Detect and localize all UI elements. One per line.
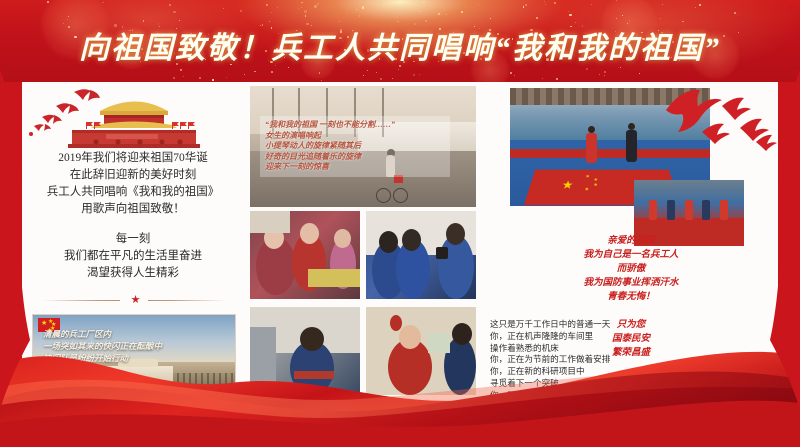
sparkle-dot <box>461 11 463 13</box>
sparkle-dot <box>380 78 382 80</box>
caption-line: “我和我的祖国 一刻也不能分割……” <box>265 120 445 131</box>
sparkle-dot <box>465 6 466 7</box>
sparkle-dot <box>362 6 365 9</box>
sparkle-dot <box>223 8 224 9</box>
sparkle-dot <box>143 20 145 22</box>
cycling-photo-caption: “我和我的祖国 一刻也不能分割……” 女生的演唱响起 小提琴动人的旋律紧随其后 … <box>260 116 450 177</box>
sparkle-dot <box>438 13 440 15</box>
flag-big-star-icon: ★ <box>561 178 575 192</box>
right-red-gutter <box>778 82 800 405</box>
sparkle-dot <box>339 21 340 22</box>
sparkle-dot <box>254 71 255 72</box>
sparkle-dot <box>604 75 606 77</box>
caption-line: 清晨的兵工厂区内 <box>43 328 223 340</box>
photo-building <box>103 366 173 388</box>
wish-line: 繁荣昌盛 <box>502 346 760 360</box>
sparkle-dot <box>317 3 320 6</box>
red-star-icon: ★ <box>130 295 141 306</box>
caption-line: 好奇的目光追随着乐的旋律 <box>265 152 445 163</box>
sparkle-dot <box>510 72 512 74</box>
intro-line: 用歌声向祖国致敬！ <box>30 201 236 218</box>
sparkle-dot <box>304 10 307 13</box>
person-figure <box>720 200 728 220</box>
sparkle-dot <box>523 6 525 8</box>
text-spacer <box>502 304 760 318</box>
elderly-women-singing-photo <box>250 211 360 299</box>
text-spacer <box>30 218 236 231</box>
sparkle-dot <box>398 69 400 71</box>
sparkle-dot <box>586 68 587 69</box>
sparkle-dot <box>425 20 427 22</box>
sparkle-dot <box>446 14 447 15</box>
sparkle-dot <box>545 4 546 5</box>
sparkle-dot <box>569 14 572 17</box>
sparkle-dot <box>604 71 607 74</box>
second-line: 我们都在平凡的生活里奋进 <box>30 248 236 265</box>
sparkle-dot <box>478 4 479 5</box>
wish-line: 只为您 <box>502 318 760 332</box>
sparkle-dot <box>591 4 593 6</box>
sparkle-dot <box>244 74 245 75</box>
caption-line: 女生的演唱响起 <box>265 131 445 142</box>
sparkle-dot <box>734 12 736 14</box>
sparkle-dot <box>554 2 556 4</box>
sparkle-dot <box>359 15 361 17</box>
sparkle-dot <box>321 80 322 81</box>
sparkle-dot <box>199 77 201 79</box>
body-line: 奔上回家团圆的归途 <box>490 413 640 425</box>
person-figure <box>649 200 657 220</box>
caption-line: 小提琴动人的旋律紧随其后 <box>265 141 445 152</box>
sparkle-dot <box>347 13 348 14</box>
pledge-text: 亲爱的祖国 我为自己是一名兵工人 而骄傲 我为国防事业挥洒汗水 青春无悔！ 只为… <box>502 234 760 360</box>
divider-rule-right <box>148 300 226 301</box>
poster-root: 向祖国致敬！兵工人共同唱响“我和我的祖国” <box>0 0 800 447</box>
pledge-line: 我为国防事业挥洒汗水 <box>502 276 760 290</box>
sparkle-dot <box>173 11 176 14</box>
header-banner: 向祖国致敬！兵工人共同唱响“我和我的祖国” <box>0 0 800 82</box>
sparkle-dot <box>367 70 368 71</box>
sparkle-dot <box>305 15 307 17</box>
sparkle-dot <box>415 18 416 19</box>
pledge-line: 而骄傲 <box>502 262 760 276</box>
divider-rule-left <box>42 300 120 301</box>
sparkle-dot <box>240 10 242 12</box>
sparkle-dot <box>423 1 425 3</box>
sparkle-dot <box>737 14 738 15</box>
intro-line: 兵工人共同唱响《我和我的祖国》 <box>30 184 236 201</box>
left-column: 2019年我们将迎来祖国70华诞 在此辞旧迎新的美好时刻 兵工人共同唱响《我和我… <box>22 82 244 405</box>
sparkle-dot <box>396 17 397 18</box>
sparkle-dot <box>392 78 393 79</box>
sparkle-dot <box>380 2 382 4</box>
factory-dawn-photo: ★ ★ ★ ★ ★ 清晨的兵工厂区内 一场突如其来的快闪正在酝酿中 快闪队员纷纷… <box>32 314 236 394</box>
sparkle-dot <box>226 77 228 79</box>
sparkle-dot <box>639 73 640 74</box>
sparkle-dot <box>660 18 662 20</box>
tiananmen-gate-icon <box>28 86 240 152</box>
sparkle-dot <box>662 4 663 5</box>
pledge-line: 我为自己是一名兵工人 <box>502 248 760 262</box>
sparkle-dot <box>542 78 544 80</box>
sparkle-dot <box>183 76 184 77</box>
sparkle-dot <box>173 77 175 79</box>
sparkle-dot <box>616 0 617 1</box>
person-figure <box>702 200 710 220</box>
sparkle-dot <box>271 12 272 13</box>
sparkle-dot <box>622 15 623 16</box>
sparkle-dot <box>699 4 701 6</box>
sparkle-dot <box>695 7 696 8</box>
sparkle-dot <box>419 74 420 75</box>
pledge-line: 亲爱的祖国 <box>502 234 760 248</box>
body-line: 千万个平凡执着的我们凝聚在一起 <box>490 437 640 447</box>
sparkle-dot <box>179 20 180 21</box>
woman-waving-red-jacket-photo <box>366 307 476 395</box>
caption-line: 一场突如其来的快闪正在酝酿中 <box>43 340 223 352</box>
sparkle-dot <box>682 21 684 23</box>
worker-at-machine-photo <box>250 307 360 395</box>
right-column: ★ ★ ★ ★ ★ <box>484 82 778 405</box>
sparkle-dot <box>277 7 278 8</box>
sparkle-dot <box>413 74 414 75</box>
sparkle-dot <box>616 18 617 19</box>
left-red-gutter <box>0 82 22 405</box>
sparkle-dot <box>536 17 537 18</box>
sparkle-dot <box>599 74 600 75</box>
intro-line: 在此辞旧迎新的美好时刻 <box>30 167 236 184</box>
workers-blue-uniform-photo <box>366 211 476 299</box>
left-intro-text: 2019年我们将迎来祖国70华诞 在此辞旧迎新的美好时刻 兵工人共同唱响《我和我… <box>30 150 236 282</box>
wish-line: 国泰民安 <box>502 332 760 346</box>
caption-line: 快闪队员纷纷开始行动 <box>43 352 223 364</box>
content-card: 2019年我们将迎来祖国70华诞 在此辞旧迎新的美好时刻 兵工人共同唱响《我和我… <box>22 82 778 405</box>
sparkle-dot <box>514 75 515 76</box>
sparkle-dot <box>180 69 181 70</box>
singer-figure-red <box>586 133 597 163</box>
sparkle-dot <box>556 78 558 80</box>
sparkle-dot <box>369 7 370 8</box>
sparkle-dot <box>298 8 299 9</box>
person-figure <box>667 200 675 220</box>
person-figure <box>685 200 693 220</box>
sparkle-dot <box>301 7 302 8</box>
red-doves-icon <box>656 82 778 156</box>
sparkle-dot <box>419 11 420 12</box>
center-column: “我和我的祖国 一刻也不能分割……” 女生的演唱响起 小提琴动人的旋律紧随其后 … <box>250 86 476 401</box>
second-line: 渴望获得人生精彩 <box>30 265 236 282</box>
pledge-line: 青春无悔！ <box>502 290 760 304</box>
sparkle-dot <box>363 75 365 77</box>
sparkle-dot <box>271 71 274 74</box>
sparkle-dot <box>376 72 378 74</box>
sparkle-dot <box>169 4 170 5</box>
sparkle-dot <box>301 2 302 3</box>
photo-grid <box>250 211 476 401</box>
second-line: 每一刻 <box>30 231 236 248</box>
sparkle-dot <box>212 79 213 80</box>
factory-photo-caption: 清晨的兵工厂区内 一场突如其来的快闪正在酝酿中 快闪队员纷纷开始行动 <box>43 328 223 364</box>
sparkle-dot <box>525 4 527 6</box>
intro-line: 2019年我们将迎来祖国70华诞 <box>30 150 236 167</box>
sparkle-dot <box>266 4 268 6</box>
sparkle-dot <box>68 16 69 17</box>
section-divider: ★ <box>42 294 226 306</box>
sparkle-dot <box>629 20 630 21</box>
singer-figure-dark <box>626 130 637 162</box>
sparkle-dot <box>356 9 357 10</box>
body-ellipsis: …… <box>490 425 640 437</box>
sparkle-dot <box>568 11 569 12</box>
sparkle-dot <box>314 5 317 8</box>
girl-cycling-photo: “我和我的祖国 一刻也不能分割……” 女生的演唱响起 小提琴动人的旋律紧随其后 … <box>250 86 476 207</box>
caption-line: 迎来下一刻的惊喜 <box>265 162 445 173</box>
sparkle-dot <box>490 18 491 19</box>
page-title: 向祖国致敬！兵工人共同唱响“我和我的祖国” <box>0 23 800 67</box>
sparkle-dot <box>544 1 545 2</box>
